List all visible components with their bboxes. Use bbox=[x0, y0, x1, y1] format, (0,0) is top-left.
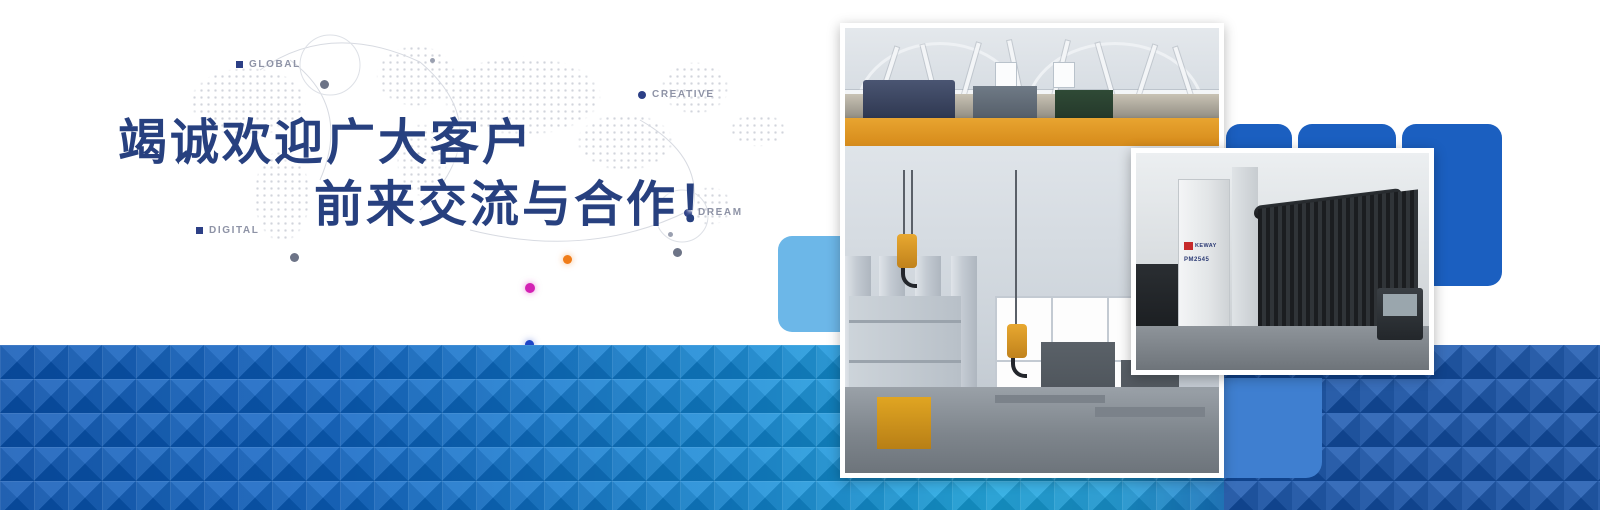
map-node-dot bbox=[320, 80, 329, 89]
map-tag-creative: CREATIVE bbox=[638, 89, 715, 100]
map-node-dot bbox=[673, 248, 682, 257]
map-tag-label: CREATIVE bbox=[652, 89, 715, 100]
crane-hook-block-2 bbox=[1007, 324, 1027, 358]
promo-banner: GLOBAL CREATIVE DIGITAL DREAM 竭诚欢迎广大客户 前… bbox=[0, 0, 1600, 510]
cnc-control-panel[interactable] bbox=[1377, 288, 1423, 340]
cnc-machine-photo-image: KEWAY PM2545 bbox=[1136, 153, 1429, 370]
cnc-brand-name: KEWAY bbox=[1195, 243, 1217, 249]
crane-equipment-box bbox=[973, 86, 1037, 120]
map-tag-global: GLOBAL bbox=[236, 59, 301, 70]
decor-rounded-rect-lower bbox=[1224, 378, 1322, 478]
map-node-dot bbox=[430, 58, 435, 63]
crane-machinery-house bbox=[863, 80, 955, 120]
orange-accent-dot bbox=[563, 255, 572, 264]
cnc-model-number: PM2545 bbox=[1184, 257, 1209, 263]
yellow-equipment-cart bbox=[877, 397, 931, 449]
map-node-dot bbox=[290, 253, 299, 262]
cnc-control-screen bbox=[1383, 294, 1417, 316]
magenta-accent-dot bbox=[525, 283, 535, 293]
cnc-machine-photo: KEWAY PM2545 bbox=[1131, 148, 1434, 375]
banner-headline: 竭诚欢迎广大客户 前来交流与合作！ bbox=[118, 112, 818, 236]
headline-line-2: 前来交流与合作！ bbox=[118, 174, 818, 236]
crane-hook-block-1 bbox=[897, 234, 917, 268]
cnc-brand-logo: KEWAY bbox=[1184, 241, 1224, 250]
crane-equipment-box-2 bbox=[1055, 90, 1113, 120]
circle-bullet-icon bbox=[638, 91, 646, 99]
headline-line-1: 竭诚欢迎广大客户 bbox=[118, 115, 534, 170]
square-bullet-icon bbox=[236, 61, 243, 68]
map-tag-label: GLOBAL bbox=[249, 59, 301, 70]
cnc-logo-mark-icon bbox=[1184, 242, 1193, 250]
